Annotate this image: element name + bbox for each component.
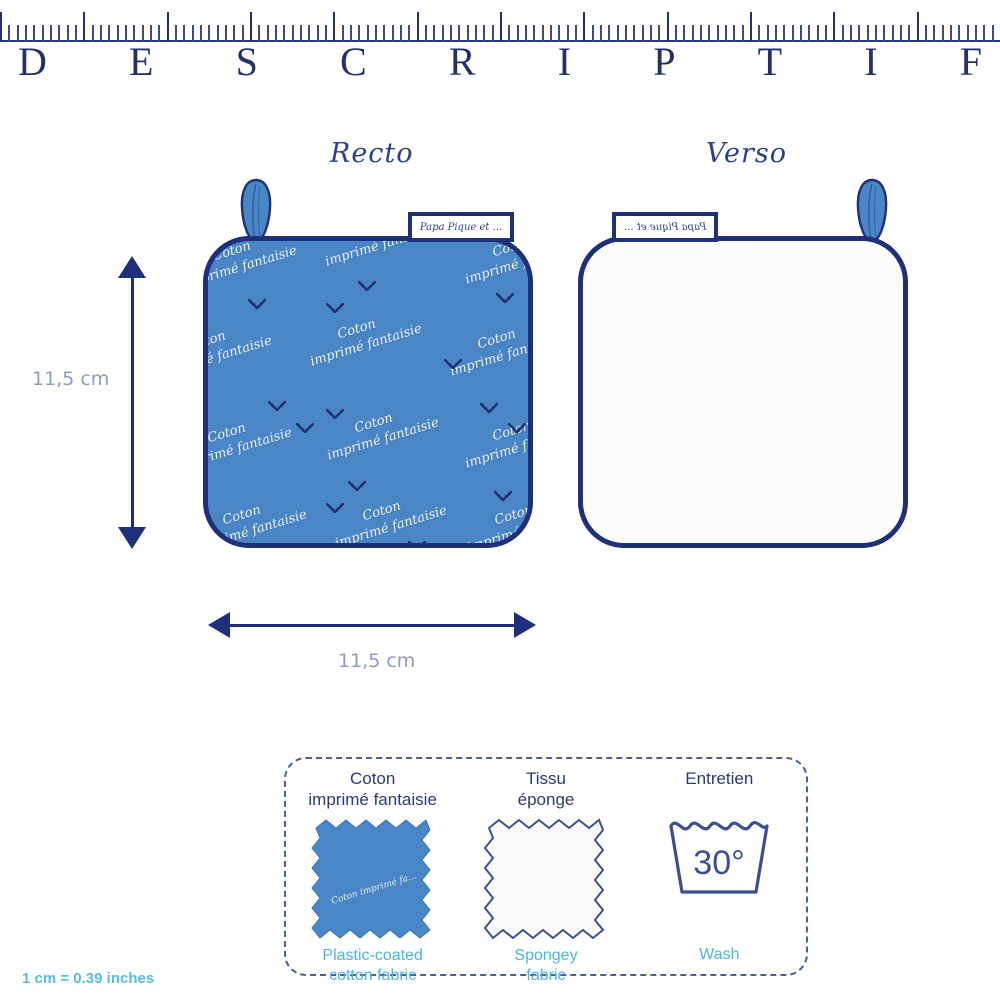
fabric-pattern-text: Cotonimprimé fantaisie — [208, 407, 294, 474]
brand-tag-text: Papa Pique et ... — [624, 222, 706, 233]
verso-product-body — [578, 236, 908, 548]
brand-tag-recto: Papa Pique et ... — [408, 212, 514, 242]
recto-label: Recto — [330, 138, 414, 169]
fabric-swatch-printed-cotton-icon: Coton imprimé fa... — [308, 818, 438, 946]
dimension-line-vertical — [131, 272, 134, 534]
page-title: DESCRIPTIF — [0, 38, 1000, 86]
fabric-pattern-text: Cotonimprimé fantaisie — [208, 489, 309, 543]
legend-title: Entretien — [685, 769, 753, 790]
recto-product-body: Cotonimprimé fantaisieCotonimprimé fanta… — [203, 236, 533, 548]
dimension-arrow-left — [208, 612, 230, 638]
title-letter-1: E — [129, 42, 153, 82]
fabric-pattern-text: Cotonimprimé fantaisie — [320, 397, 441, 464]
bird-motif-icon — [358, 281, 376, 291]
bird-motif-icon — [444, 359, 462, 369]
bird-motif-icon — [408, 541, 426, 543]
title-letter-9: F — [960, 42, 982, 82]
ruler-graphic — [0, 8, 1000, 42]
materials-legend: Coton imprimé fantaisie Coton imprimé fa… — [284, 757, 808, 976]
wash-tub-icon: 30° — [663, 812, 775, 902]
legend-subtitle: Spongey fabric — [514, 946, 577, 994]
title-letter-4: R — [449, 42, 476, 82]
fabric-pattern-text: Cotonimprimé fantaisie — [208, 315, 274, 382]
unit-conversion-note: 1 cm = 0.39 inches — [22, 970, 154, 987]
bird-motif-icon — [268, 401, 286, 411]
brand-tag-text: Papa Pique et ... — [420, 222, 502, 233]
fabric-pattern: Cotonimprimé fantaisieCotonimprimé fanta… — [208, 241, 528, 543]
title-letter-5: I — [558, 42, 571, 82]
brand-tag-verso: Papa Pique et ... — [612, 212, 718, 242]
dimension-width-label: 11,5 cm — [338, 650, 415, 672]
legend-title: Coton imprimé fantaisie — [308, 769, 437, 810]
bird-motif-icon — [248, 299, 266, 309]
fabric-pattern-text: Cotonimprimé fantaisie — [303, 303, 424, 370]
title-letter-3: C — [340, 42, 367, 82]
fabric-pattern-text: Cotonimprimé fantaisie — [328, 485, 449, 543]
fabric-pattern-text: Cotonimprimé fantaisie — [458, 405, 528, 472]
dimension-arrow-down — [118, 527, 146, 549]
legend-subtitle: Plastic-coated cotton fabric — [322, 946, 423, 994]
descriptif-sheet: DESCRIPTIF Recto Verso Cotonimprimé fant… — [0, 0, 1000, 1000]
bird-motif-icon — [480, 403, 498, 413]
legend-column-care: Entretien 30° Wash — [633, 759, 806, 974]
bird-motif-icon — [326, 303, 344, 313]
bird-motif-icon — [494, 491, 512, 501]
bird-motif-icon — [508, 423, 526, 433]
legend-subtitle: Wash — [699, 945, 739, 974]
title-letter-0: D — [18, 42, 47, 82]
legend-title: Tissu éponge — [518, 769, 575, 810]
title-letter-8: I — [864, 42, 877, 82]
verso-label: Verso — [706, 138, 787, 169]
bird-motif-icon — [326, 503, 344, 513]
bird-motif-icon — [326, 409, 344, 419]
bird-motif-icon — [296, 423, 314, 433]
title-letter-6: P — [653, 42, 675, 82]
hanging-loop-icon — [239, 178, 273, 244]
legend-column-terry: Tissu éponge Spongey fabric — [459, 759, 632, 974]
title-letter-2: S — [236, 42, 258, 82]
bird-motif-icon — [348, 481, 366, 491]
bird-motif-icon — [496, 293, 514, 303]
fabric-pattern-text: Cotonimprimé fantaisie — [443, 313, 528, 380]
dimension-arrow-right — [514, 612, 536, 638]
fabric-pattern-text: Cotonimprimé fantaisie — [208, 241, 299, 293]
fabric-pattern-text: Cotonimprimé fantaisie — [318, 241, 439, 271]
dimension-height-label: 11,5 cm — [32, 368, 109, 390]
fabric-swatch-terry-icon — [481, 818, 611, 946]
fabric-pattern-text: Cotonimprimé fantaisie — [458, 241, 528, 289]
title-letter-7: T — [758, 42, 782, 82]
legend-column-cotton: Coton imprimé fantaisie Coton imprimé fa… — [286, 759, 459, 974]
hanging-loop-icon — [855, 178, 889, 244]
dimension-line-horizontal — [228, 624, 516, 627]
wash-temperature-text: 30° — [694, 844, 745, 882]
